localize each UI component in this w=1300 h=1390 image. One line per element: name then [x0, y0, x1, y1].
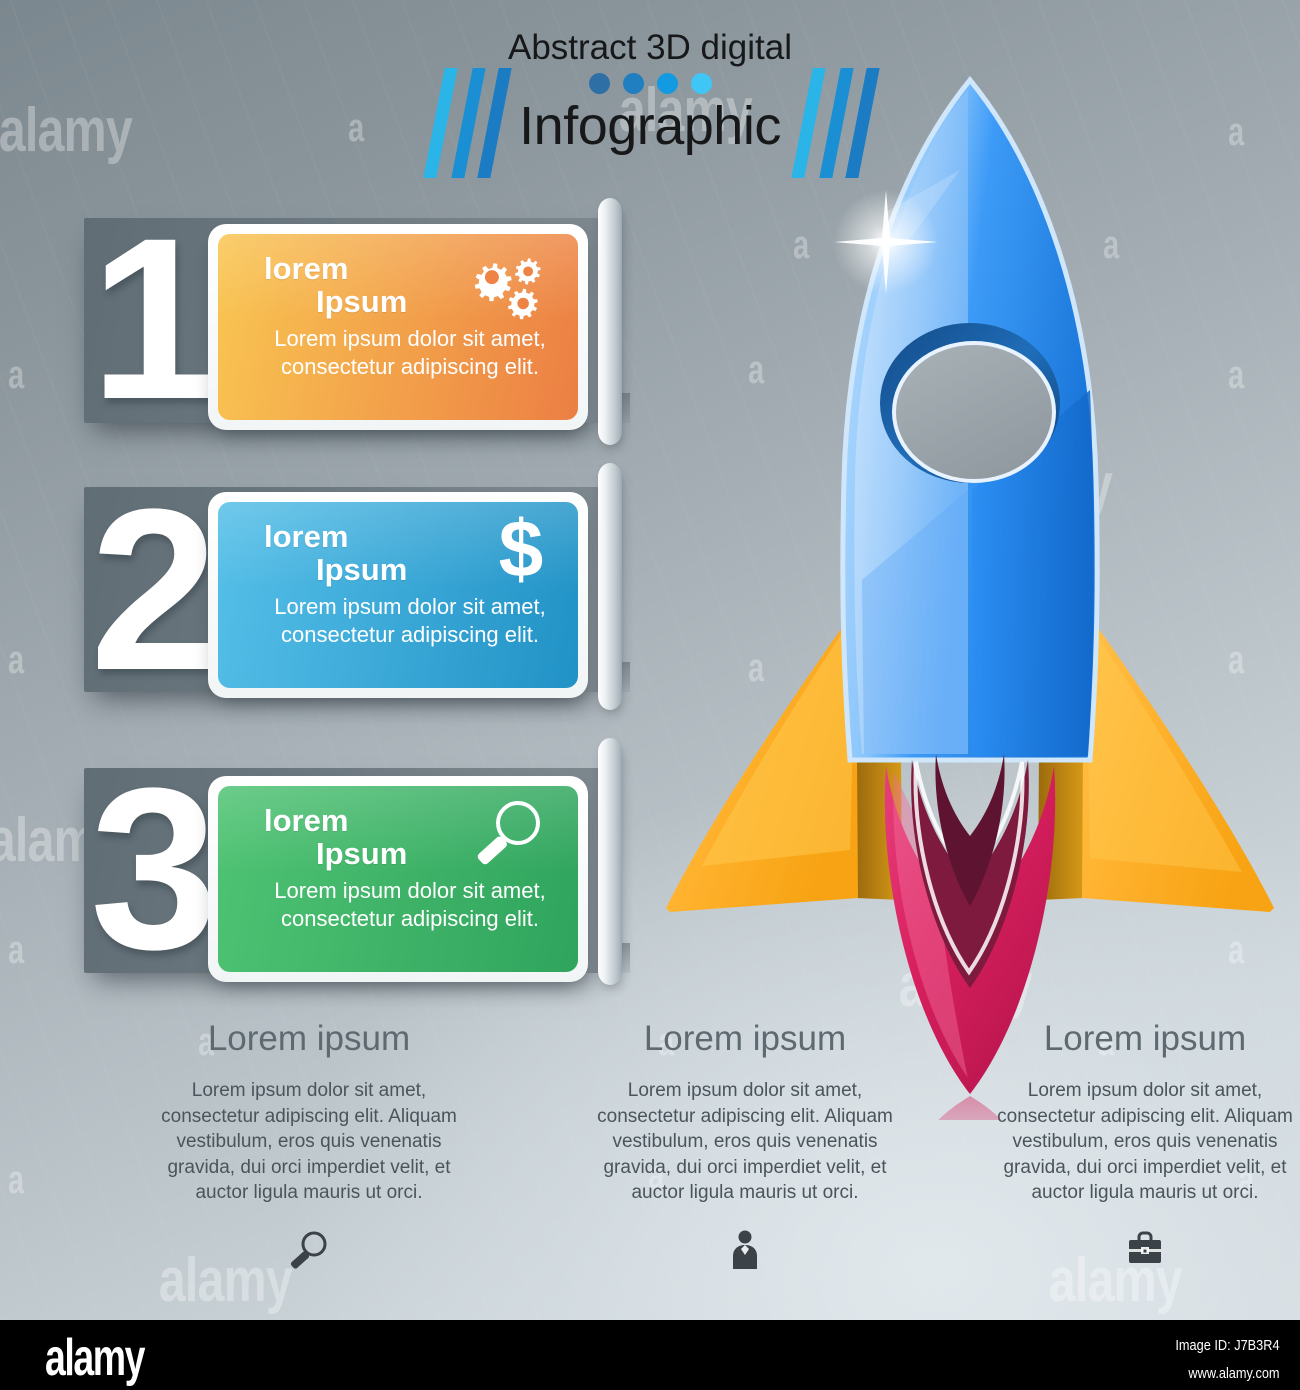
alamy-meta: Image ID: J7B3R4 www.alamy.com [1176, 1332, 1280, 1388]
alamy-url[interactable]: www.alamy.com [1176, 1360, 1280, 1388]
step-number-3: 3 [76, 766, 226, 971]
step-number-1: 1 [76, 216, 226, 421]
dot-1 [589, 73, 610, 94]
alamy-logo: alamy [45, 1328, 144, 1388]
column-title-2: Lorem ipsum [580, 1018, 910, 1060]
svg-text:$: $ [499, 506, 544, 592]
rocket-illustration [650, 60, 1290, 1120]
step-card-3[interactable]: lorem Ipsum Lorem ipsum dolor sit amet, … [208, 776, 588, 982]
bottom-column-2: Lorem ipsum Lorem ipsum dolor sit amet, … [580, 1018, 910, 1272]
column-body-2: Lorem ipsum dolor sit amet, consectetur … [580, 1078, 910, 1206]
card-tab-3 [598, 738, 622, 985]
dollar-icon: $ [486, 506, 556, 592]
column-title-1: Lorem ipsum [144, 1018, 474, 1060]
image-id: Image ID: J7B3R4 [1176, 1332, 1280, 1360]
dot-2 [623, 73, 644, 94]
card-tab-2 [598, 463, 622, 710]
businessman-icon [723, 1228, 767, 1272]
bottom-column-1: Lorem ipsum Lorem ipsum dolor sit amet, … [144, 1018, 474, 1272]
alamy-footer-bar: alamy Image ID: J7B3R4 www.alamy.com [0, 1320, 1300, 1390]
step-card-2[interactable]: lorem Ipsum Lorem ipsum dolor sit amet, … [208, 492, 588, 698]
bottom-column-3: Lorem ipsum Lorem ipsum dolor sit amet, … [980, 1018, 1300, 1272]
card-desc-1: Lorem ipsum dolor sit amet, consectetur … [264, 325, 560, 381]
magnifier-icon [287, 1228, 331, 1272]
infographic-canvas: alamy alamy alamy alamy alamy alamy alam… [0, 0, 1300, 1390]
magnifier-icon [468, 796, 548, 876]
step-number-2: 2 [76, 487, 226, 692]
column-title-3: Lorem ipsum [980, 1018, 1300, 1060]
card-desc-2: Lorem ipsum dolor sit amet, consectetur … [264, 593, 560, 649]
briefcase-icon [1123, 1228, 1167, 1272]
card-tab-1 [598, 198, 622, 445]
column-body-3: Lorem ipsum dolor sit amet, consectetur … [980, 1078, 1300, 1206]
bottom-columns: Lorem ipsum Lorem ipsum dolor sit amet, … [0, 1018, 1300, 1318]
gears-icon [468, 250, 552, 324]
card-title-line1: lorem [264, 519, 348, 554]
column-body-1: Lorem ipsum dolor sit amet, consectetur … [144, 1078, 474, 1206]
card-title-line1: lorem [264, 251, 348, 286]
step-card-1[interactable]: lorem Ipsum Lorem ipsum dolor sit amet, … [208, 224, 588, 430]
card-desc-3: Lorem ipsum dolor sit amet, consectetur … [264, 877, 560, 933]
card-title-line1: lorem [264, 803, 348, 838]
